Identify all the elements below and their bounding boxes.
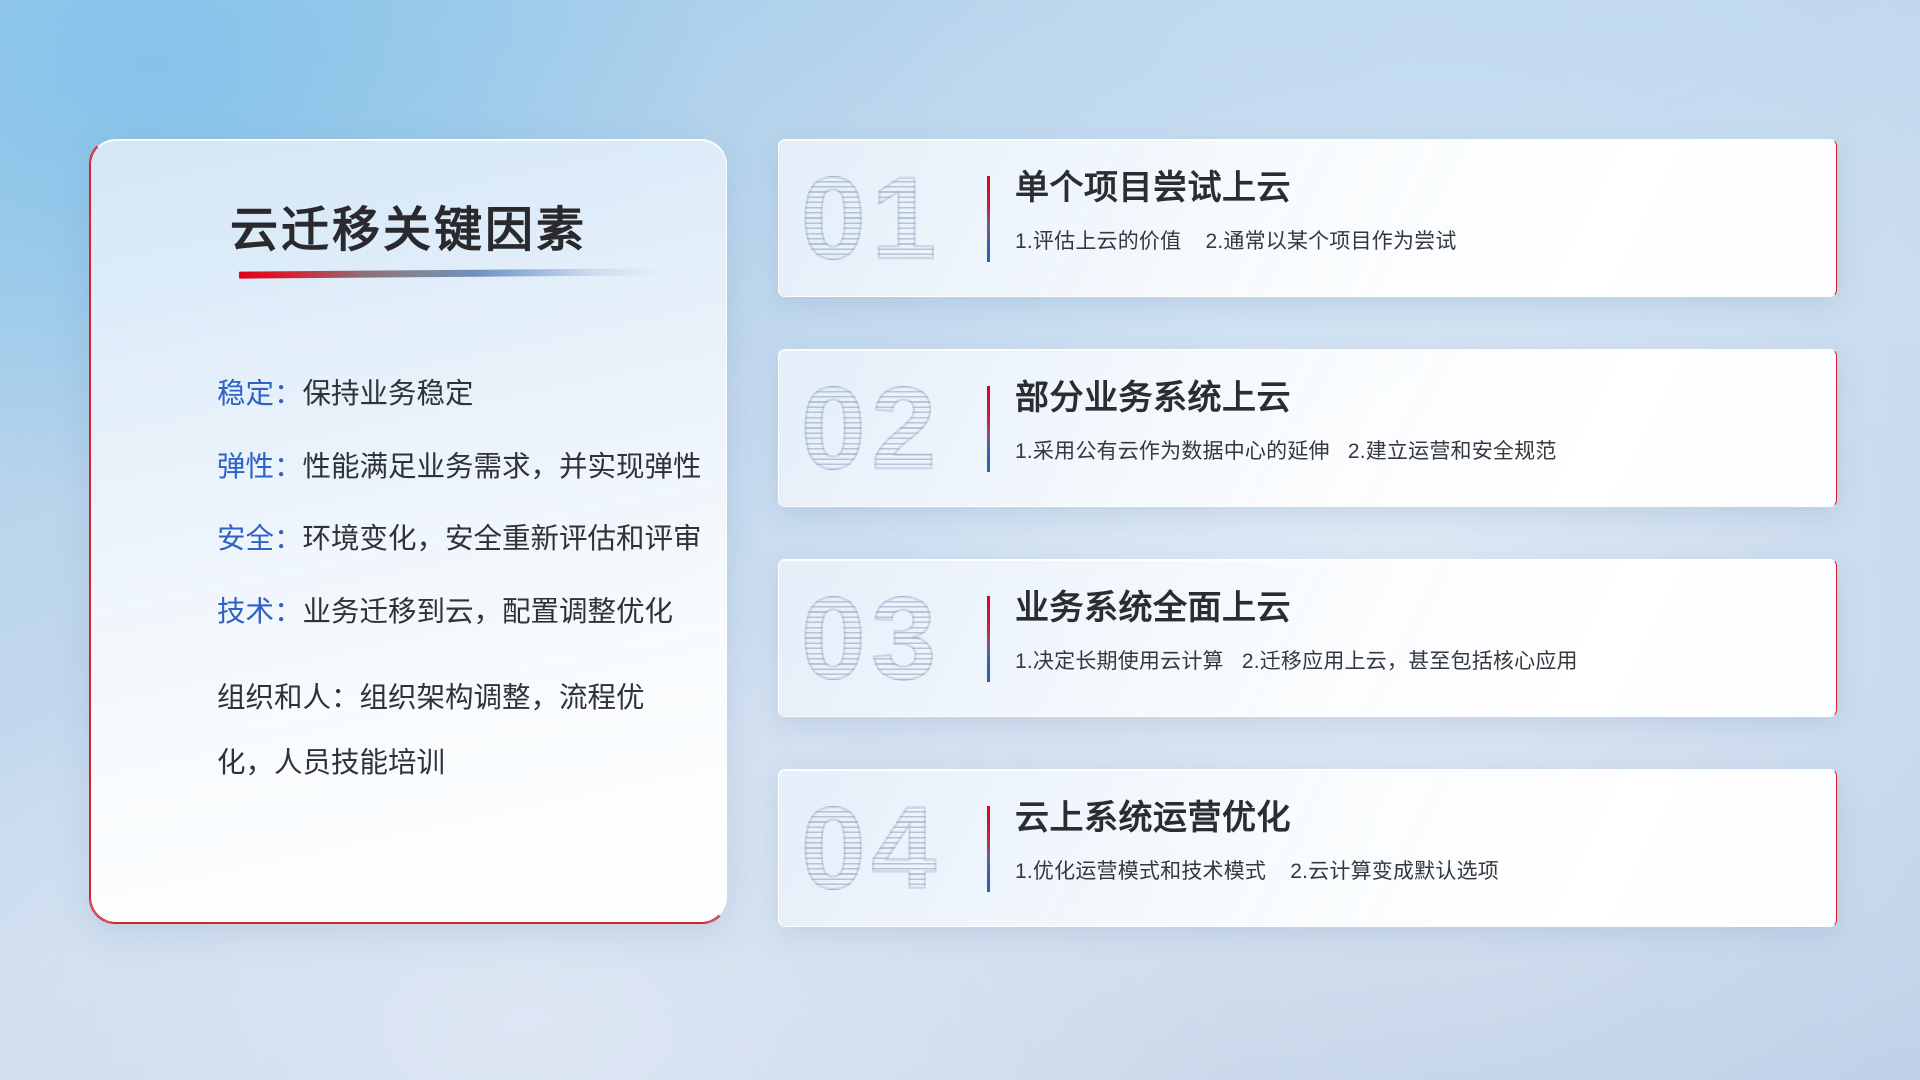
- list-item-text: 环境变化，安全重新评估和评审: [303, 523, 702, 555]
- stage-text-block: 业务系统全面上云 1.决定长期使用云计算 2.迁移应用上云，甚至包括核心应用: [1015, 588, 1812, 675]
- stage-title: 单个项目尝试上云: [1015, 168, 1812, 208]
- list-item-key: 弹性：: [217, 451, 303, 483]
- stage-divider: [987, 596, 990, 682]
- stage-card[interactable]: 02 部分业务系统上云 1.采用公有云作为数据中心的延伸 2.建立运营和安全规范: [778, 349, 1837, 507]
- stage-title: 业务系统全面上云: [1015, 588, 1812, 628]
- list-item-text: 性能满足业务需求，并实现弹性: [303, 451, 702, 483]
- stage-card[interactable]: 04 云上系统运营优化 1.优化运营模式和技术模式 2.云计算变成默认选项: [778, 769, 1837, 927]
- list-item-key: 安全：: [217, 523, 303, 555]
- stage-subtitle: 1.评估上云的价值 2.通常以某个项目作为尝试: [1015, 225, 1812, 255]
- panel-title: 云迁移关键因素: [91, 190, 726, 260]
- stage-card[interactable]: 03 业务系统全面上云 1.决定长期使用云计算 2.迁移应用上云，甚至包括核心应…: [778, 559, 1837, 717]
- stage-number: 04: [801, 790, 942, 906]
- stage-subtitle: 1.决定长期使用云计算 2.迁移应用上云，甚至包括核心应用: [1015, 645, 1812, 675]
- stage-number: 01: [801, 160, 942, 276]
- list-item-text: 业务迁移到云，配置调整优化: [303, 596, 674, 628]
- stage-card[interactable]: 01 单个项目尝试上云 1.评估上云的价值 2.通常以某个项目作为尝试: [778, 139, 1837, 297]
- stage-divider: [987, 806, 990, 892]
- stage-number: 02: [801, 370, 942, 486]
- list-item: 安全：环境变化，安全重新评估和评审: [217, 521, 690, 559]
- list-item-key: 技术：: [217, 596, 303, 628]
- list-item: 弹性：性能满足业务需求，并实现弹性: [217, 449, 690, 487]
- stage-title: 部分业务系统上云: [1015, 378, 1812, 418]
- stage-title: 云上系统运营优化: [1015, 798, 1812, 838]
- list-item-text: 保持业务稳定: [303, 378, 474, 410]
- stage-subtitle: 1.优化运营模式和技术模式 2.云计算变成默认选项: [1015, 855, 1812, 885]
- stage-text-block: 部分业务系统上云 1.采用公有云作为数据中心的延伸 2.建立运营和安全规范: [1015, 378, 1812, 465]
- list-item: 技术：业务迁移到云，配置调整优化: [217, 594, 690, 632]
- stage-divider: [987, 386, 990, 472]
- stage-divider: [987, 176, 990, 262]
- stage-text-block: 单个项目尝试上云 1.评估上云的价值 2.通常以某个项目作为尝试: [1015, 168, 1812, 255]
- stage-text-block: 云上系统运营优化 1.优化运营模式和技术模式 2.云计算变成默认选项: [1015, 798, 1812, 885]
- list-item-key: 稳定：: [217, 378, 303, 410]
- list-item: 组织和人：组织架构调整，流程优化，人员技能培训: [217, 666, 690, 794]
- list-item-key: 组织和人：: [217, 682, 360, 714]
- list-item: 稳定：保持业务稳定: [217, 376, 690, 414]
- stage-subtitle: 1.采用公有云作为数据中心的延伸 2.建立运营和安全规范: [1015, 435, 1812, 465]
- key-factors-panel: 云迁移关键因素 稳定：保持业务稳定 弹性：性能满足业务需求，并实现弹性 安全：环…: [90, 139, 727, 923]
- title-underline-rule: [239, 268, 659, 278]
- key-factors-list: 稳定：保持业务稳定 弹性：性能满足业务需求，并实现弹性 安全：环境变化，安全重新…: [217, 376, 690, 830]
- slide-canvas: 云迁移关键因素 稳定：保持业务稳定 弹性：性能满足业务需求，并实现弹性 安全：环…: [0, 0, 1920, 1080]
- stage-number: 03: [801, 580, 942, 696]
